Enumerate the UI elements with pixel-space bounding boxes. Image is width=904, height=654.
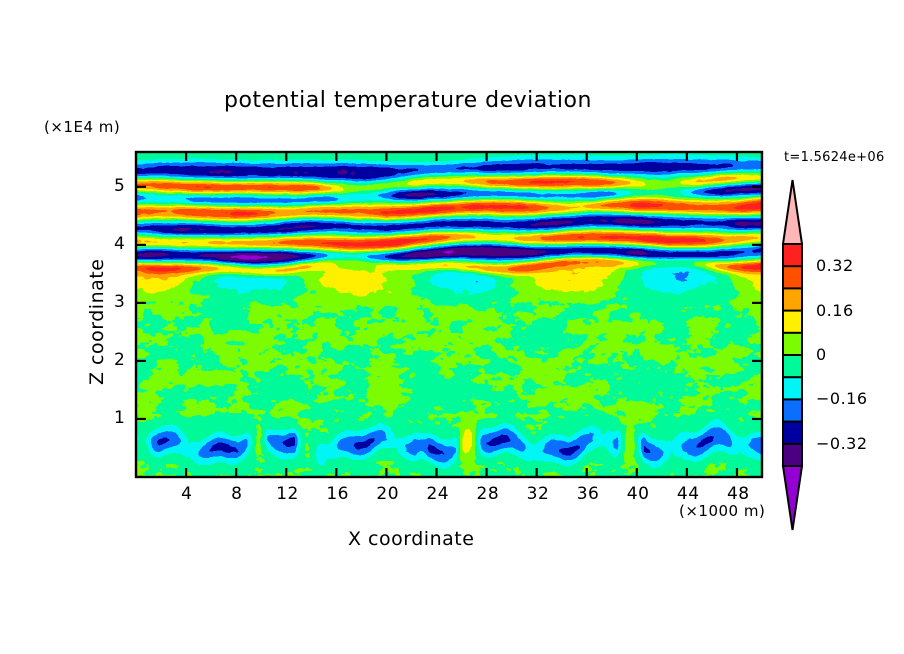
colorbar-tick-label: −0.32 — [816, 434, 868, 453]
y-tick-label: 3 — [114, 292, 125, 312]
x-tick-label: 48 — [727, 484, 750, 504]
y-tick-label: 5 — [114, 176, 125, 196]
y-tick-label: 4 — [114, 234, 125, 254]
x-tick-label: 32 — [527, 484, 550, 504]
x-tick-label: 40 — [627, 484, 650, 504]
x-tick-label: 4 — [181, 484, 192, 504]
field-raster — [136, 152, 762, 477]
colorbar-band — [783, 311, 802, 334]
colorbar-band — [783, 444, 802, 467]
y-tick-label: 1 — [114, 408, 125, 428]
colorbar-tick-label: 0.16 — [816, 301, 854, 320]
colorbar-band — [783, 422, 802, 445]
colorbar-band — [783, 355, 802, 378]
colorbar-tick-label: 0 — [816, 345, 827, 364]
colorbar-tick-label: −0.16 — [816, 389, 868, 408]
x-tick-label: 28 — [477, 484, 500, 504]
x-tick-label: 36 — [577, 484, 600, 504]
contour-plot — [0, 0, 904, 654]
colorbar-under-arrow — [783, 466, 802, 530]
colorbar-band — [783, 244, 802, 267]
x-tick-label: 16 — [326, 484, 349, 504]
y-tick-label: 2 — [114, 350, 125, 370]
colorbar-band — [783, 288, 802, 311]
x-tick-label: 20 — [376, 484, 399, 504]
colorbar-over-arrow — [783, 180, 802, 244]
colorbar-band — [783, 333, 802, 356]
colorbar-band — [783, 399, 802, 422]
colorbar-band — [783, 377, 802, 400]
colorbar-tick-label: 0.32 — [816, 256, 854, 275]
x-tick-label: 8 — [231, 484, 242, 504]
x-tick-label: 12 — [276, 484, 299, 504]
x-tick-label: 44 — [677, 484, 700, 504]
x-tick-label: 24 — [426, 484, 449, 504]
colorbar-band — [783, 266, 802, 289]
